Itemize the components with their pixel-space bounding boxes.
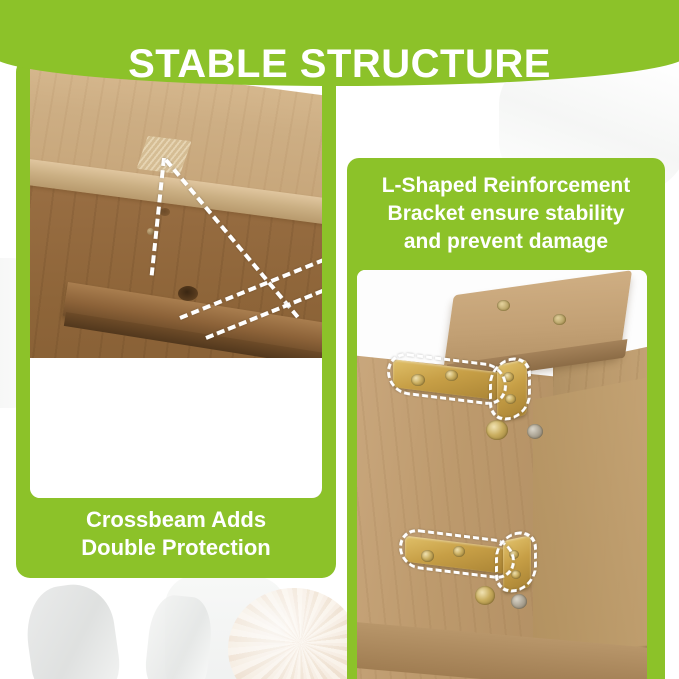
right-caption-card: L-Shaped Reinforcement Bracket ensure st… [347, 158, 665, 260]
background-chair-leg-2 [143, 593, 215, 679]
screw-icon [527, 424, 543, 439]
screw-icon [511, 594, 527, 609]
wood-panel-inner [533, 376, 647, 679]
wood-knot-small [160, 208, 170, 216]
right-caption: L-Shaped Reinforcement Bracket ensure st… [351, 172, 661, 256]
product-infographic: STABLE STRUCTURE Crossbeam Adds Double P… [0, 0, 679, 679]
wood-knot [178, 286, 198, 301]
left-caption: Crossbeam Adds Double Protection [24, 506, 328, 562]
screw-icon [553, 314, 566, 325]
right-caption-line-1: L-Shaped Reinforcement [351, 172, 661, 200]
left-feature-card: Crossbeam Adds Double Protection [16, 58, 336, 578]
right-caption-line-3: and prevent damage [351, 228, 661, 256]
bracket-photo [357, 270, 647, 679]
screw-icon [475, 586, 495, 605]
right-caption-line-2: Bracket ensure stability [351, 200, 661, 228]
photo-white-backdrop [30, 358, 322, 498]
right-feature-card [347, 260, 665, 679]
screw-icon [486, 420, 508, 440]
left-caption-line-1: Crossbeam Adds [24, 506, 328, 534]
screw-icon [497, 300, 510, 311]
left-caption-line-2: Double Protection [24, 534, 328, 562]
page-title: STABLE STRUCTURE [0, 44, 679, 84]
background-chair-leg [21, 579, 123, 679]
crossbeam-photo [30, 68, 322, 498]
